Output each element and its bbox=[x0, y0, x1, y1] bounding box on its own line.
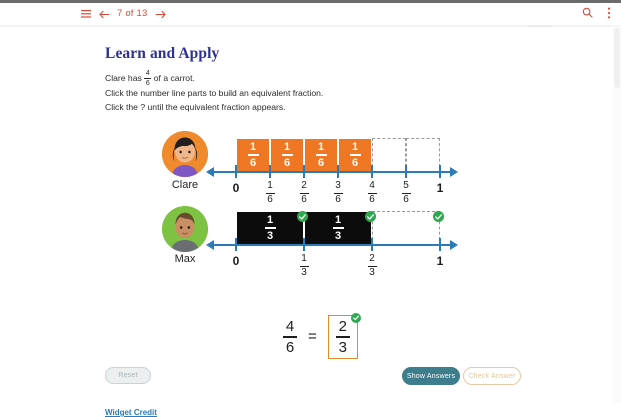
numberline-clare-label-1: 1 6 bbox=[263, 181, 277, 205]
segment-fraction-label: 1 3 bbox=[333, 215, 344, 242]
avatar-name-max: Max bbox=[150, 253, 220, 265]
numberline-max-tick-3 bbox=[439, 238, 441, 251]
numberline-max-segment-3-empty[interactable] bbox=[372, 211, 440, 245]
equation-left-bar bbox=[283, 336, 297, 338]
equation-left-denominator: 6 bbox=[286, 340, 294, 355]
numberline-clare-label-0: 0 bbox=[230, 182, 242, 194]
segment-fraction-label: 1 6 bbox=[248, 142, 259, 169]
numberline-clare-label-5: 5 6 bbox=[399, 181, 413, 205]
label-numerator: 2 bbox=[301, 181, 307, 191]
numberline-max-segment-2[interactable]: 1 3 bbox=[304, 211, 372, 245]
numberline-clare-right-arrow bbox=[450, 167, 458, 177]
segment-fraction-bar bbox=[265, 227, 276, 229]
numberline-max-tick-2 bbox=[371, 238, 373, 251]
numberline-clare-tick-0 bbox=[235, 165, 237, 178]
numberline-clare-segment-5-empty[interactable] bbox=[372, 138, 406, 172]
check-answer-button[interactable]: Check Answer bbox=[463, 367, 521, 385]
segment-fraction-bar bbox=[282, 154, 293, 156]
numberline-max-label-2: 2 3 bbox=[365, 254, 379, 278]
toolbar-left-group: 7 of 13 bbox=[78, 3, 170, 25]
equation-right-bar bbox=[336, 336, 350, 338]
document-toolbar: 7 of 13 bbox=[0, 3, 621, 26]
segment-denominator: 3 bbox=[335, 231, 341, 242]
fraction-widget: Clare 1 6 1 6 bbox=[0, 27, 613, 403]
numberline-clare-tick-4 bbox=[371, 165, 373, 178]
equation-right-numerator: 2 bbox=[339, 319, 347, 334]
equation-answer-box[interactable]: 2 3 bbox=[328, 315, 358, 359]
label-numerator: 1 bbox=[301, 254, 307, 264]
segment-denominator: 6 bbox=[318, 158, 324, 169]
label-numerator: 2 bbox=[369, 254, 375, 264]
segment-numerator: 1 bbox=[318, 142, 324, 153]
numberline-max-label-0: 0 bbox=[230, 255, 242, 267]
avatar-clare bbox=[162, 131, 208, 177]
segment-denominator: 6 bbox=[250, 158, 256, 169]
numberline-max-segment-1[interactable]: 1 3 bbox=[236, 211, 304, 245]
numberline-clare-segment-3[interactable]: 1 6 bbox=[304, 138, 338, 172]
label-numerator: 5 bbox=[403, 181, 409, 191]
segment-fraction-label: 1 6 bbox=[350, 142, 361, 169]
label-denominator: 6 bbox=[335, 195, 341, 205]
numberline-max-label-3: 1 bbox=[434, 255, 446, 267]
segment-fraction-bar bbox=[316, 154, 327, 156]
segment-numerator: 1 bbox=[335, 215, 341, 226]
segment-denominator: 6 bbox=[284, 158, 290, 169]
numberline-clare-tick-2 bbox=[303, 165, 305, 178]
lesson-content: Learn and Apply Clare has 4 6 of a carro… bbox=[0, 27, 613, 403]
equals-sign: = bbox=[308, 328, 317, 345]
equation-right-denominator: 3 bbox=[339, 340, 347, 355]
scrollbar-thumb[interactable] bbox=[614, 28, 620, 88]
numberline-max-right-arrow bbox=[450, 240, 458, 250]
check-circle-icon bbox=[297, 211, 308, 222]
next-page-button[interactable] bbox=[150, 3, 170, 25]
check-circle-icon bbox=[433, 211, 444, 222]
more-vertical-icon[interactable] bbox=[607, 7, 611, 22]
segment-fraction-bar bbox=[350, 154, 361, 156]
numberline-max-label-1: 1 3 bbox=[297, 254, 311, 278]
numberline-clare-segment-1[interactable]: 1 6 bbox=[236, 138, 270, 172]
widget-credit-link[interactable]: Widget Credit bbox=[105, 408, 157, 417]
lesson-page: 7 of 13 bbox=[0, 0, 621, 403]
segment-fraction-bar bbox=[248, 154, 259, 156]
numberline-clare-segment-6-empty[interactable] bbox=[406, 138, 440, 172]
avatar-max bbox=[162, 206, 208, 252]
equivalent-fraction-equation: 4 6 = 2 3 bbox=[283, 315, 358, 359]
numberline-clare-tick-3 bbox=[337, 165, 339, 178]
show-answers-button[interactable]: Show Answers bbox=[402, 367, 460, 385]
segment-fraction-label: 1 6 bbox=[282, 142, 293, 169]
segment-denominator: 3 bbox=[267, 231, 273, 242]
check-circle-icon bbox=[351, 313, 361, 323]
numberline-clare-label-6: 1 bbox=[434, 182, 446, 194]
label-numerator: 4 bbox=[369, 181, 375, 191]
label-denominator: 3 bbox=[369, 268, 375, 278]
numberline-clare-tick-1 bbox=[269, 165, 271, 178]
segment-numerator: 1 bbox=[352, 142, 358, 153]
numberline-clare-segment-2[interactable]: 1 6 bbox=[270, 138, 304, 172]
toolbar-right-group bbox=[582, 3, 611, 25]
segment-fraction-label: 1 6 bbox=[316, 142, 327, 169]
label-denominator: 6 bbox=[369, 195, 375, 205]
equation-left-numerator: 4 bbox=[286, 319, 294, 334]
label-denominator: 6 bbox=[267, 195, 273, 205]
numberline-clare-axis bbox=[213, 171, 452, 173]
numberline-max-tick-1 bbox=[303, 238, 305, 251]
segment-denominator: 6 bbox=[352, 158, 358, 169]
numberline-clare-tick-6 bbox=[439, 165, 441, 178]
label-denominator: 6 bbox=[403, 195, 409, 205]
numberline-max-tick-0 bbox=[235, 238, 237, 251]
equation-right-fraction: 2 3 bbox=[336, 319, 350, 355]
hamburger-icon[interactable] bbox=[78, 3, 94, 25]
segment-numerator: 1 bbox=[284, 142, 290, 153]
check-circle-icon bbox=[365, 211, 376, 222]
numberline-clare-tick-5 bbox=[405, 165, 407, 178]
segment-numerator: 1 bbox=[250, 142, 256, 153]
reset-button[interactable]: Reset bbox=[105, 367, 151, 384]
label-denominator: 6 bbox=[301, 195, 307, 205]
numberline-clare-label-2: 2 6 bbox=[297, 181, 311, 205]
label-numerator: 1 bbox=[267, 181, 273, 191]
numberline-clare-label-3: 3 6 bbox=[331, 181, 345, 205]
label-numerator: 3 bbox=[335, 181, 341, 191]
numberline-clare-segment-4[interactable]: 1 6 bbox=[338, 138, 372, 172]
numberline-clare-label-4: 4 6 bbox=[365, 181, 379, 205]
segment-fraction-bar bbox=[333, 227, 344, 229]
previous-page-button[interactable] bbox=[94, 3, 114, 25]
search-icon[interactable] bbox=[582, 7, 593, 21]
segment-numerator: 1 bbox=[267, 215, 273, 226]
page-indicator[interactable]: 7 of 13 bbox=[114, 3, 150, 25]
equation-left-fraction: 4 6 bbox=[283, 319, 297, 355]
numberline-max-axis bbox=[213, 244, 452, 246]
segment-fraction-label: 1 3 bbox=[265, 215, 276, 242]
avatar-name-clare: Clare bbox=[150, 179, 220, 191]
label-denominator: 3 bbox=[301, 268, 307, 278]
